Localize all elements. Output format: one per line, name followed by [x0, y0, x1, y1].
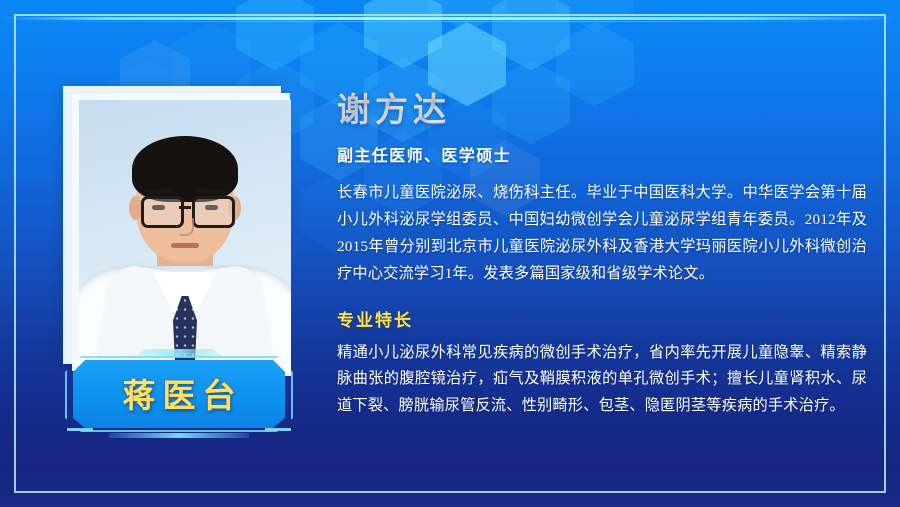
- nameplate-label: 蒋医台: [63, 356, 295, 440]
- portrait-glasses-left-lens: [141, 196, 184, 228]
- portrait-mouth: [171, 243, 199, 248]
- doctor-portrait-photo: [79, 100, 291, 376]
- hexagon-shape: [236, 0, 314, 70]
- doctor-title: 副主任医师、医学硕士: [337, 142, 867, 166]
- portrait-glasses-bridge: [179, 206, 191, 209]
- doctor-profile-card: 蒋医台 谢方达 副主任医师、医学硕士 长春市儿童医院泌尿、烧伤科主任。毕业于中国…: [0, 0, 900, 507]
- hexagon-shape: [556, 0, 634, 32]
- portrait-photo-block: [63, 86, 295, 378]
- cyan-scanline-icon: [0, 17, 900, 20]
- cyan-scanline-secondary-icon: [0, 21, 900, 22]
- hexagon-shape: [492, 0, 570, 70]
- doctor-name: 谢方达: [337, 92, 867, 129]
- hexagon-shape: [428, 0, 506, 32]
- portrait-nose: [179, 218, 194, 236]
- specialty-body: 精通小儿泌尿外科常见疾病的微创手术治疗，省内率先开展儿童隐睾、精索静脉曲张的腹腔…: [337, 340, 867, 421]
- nameplate: 蒋医台: [63, 356, 295, 440]
- specialty-heading: 专业特长: [337, 306, 867, 331]
- profile-content: 谢方达 副主任医师、医学硕士 长春市儿童医院泌尿、烧伤科主任。毕业于中国医科大学…: [337, 92, 867, 420]
- portrait-glasses-right-lens: [192, 196, 235, 228]
- doctor-biography: 长春市儿童医院泌尿、烧伤科主任。毕业于中国医科大学。中华医学会第十届小儿外科泌尿…: [337, 180, 867, 288]
- hexagon-shape: [364, 0, 442, 68]
